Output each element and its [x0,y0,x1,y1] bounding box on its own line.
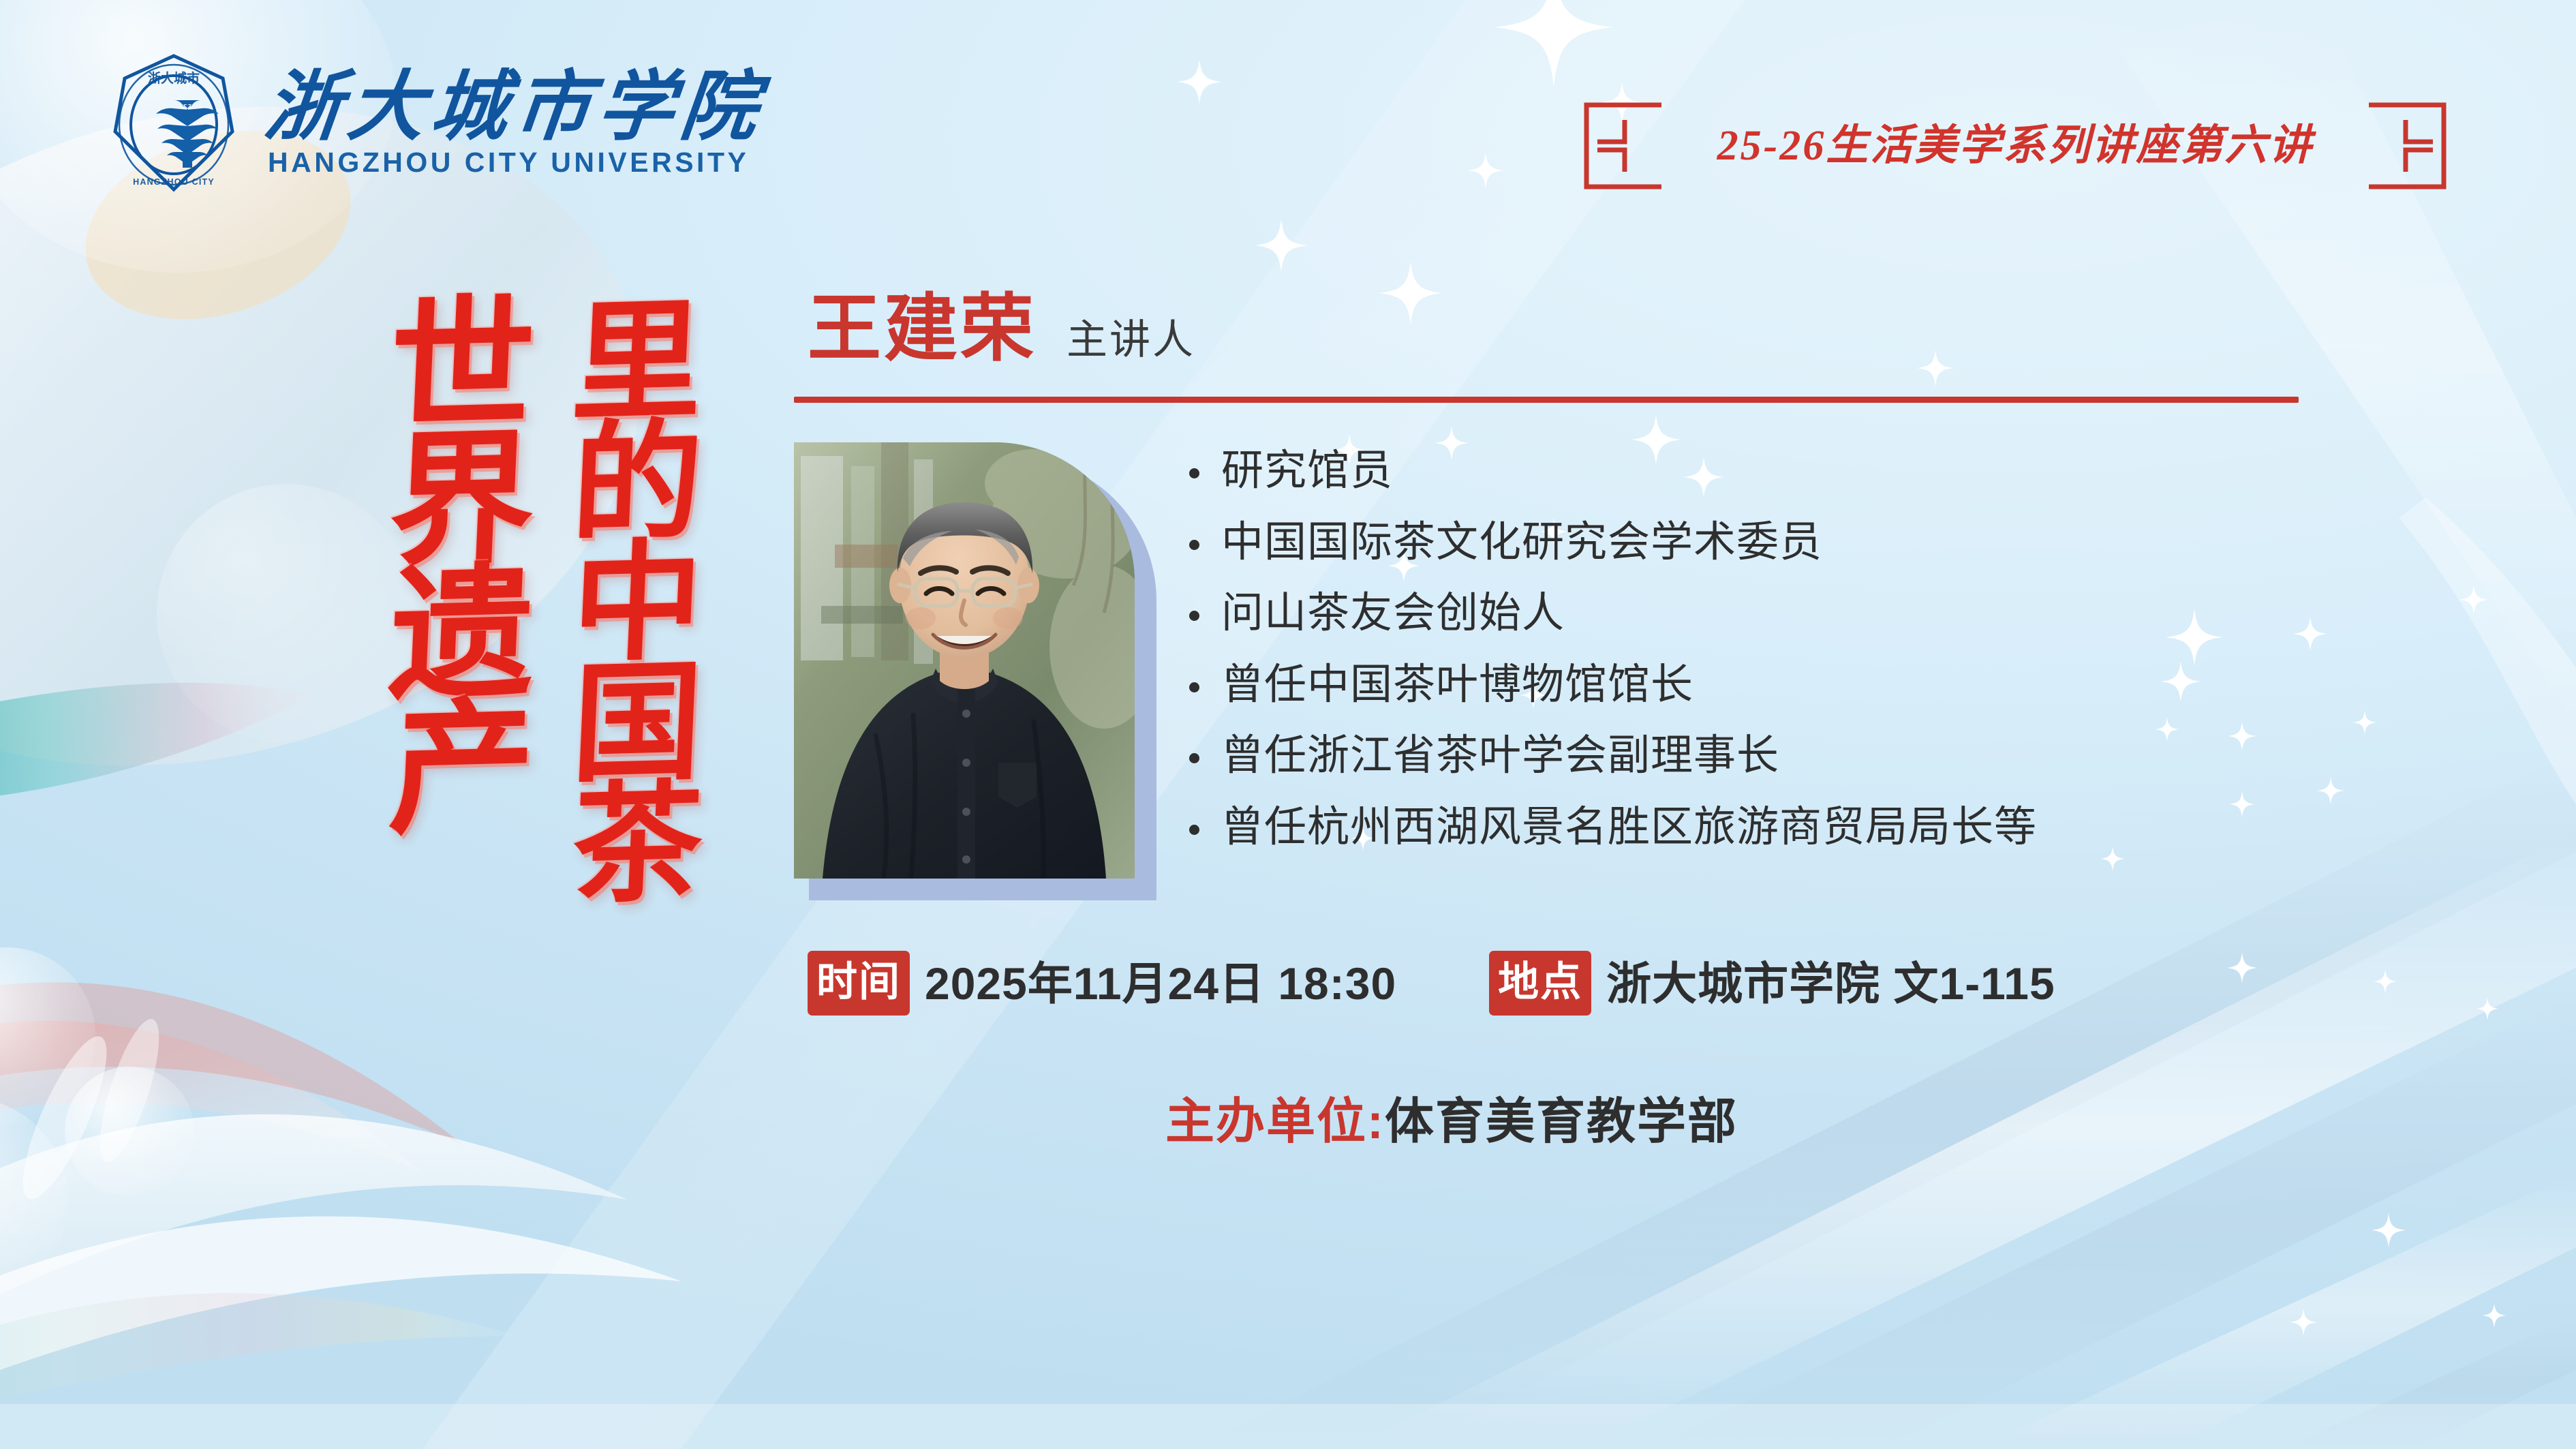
logo-name-cn: 浙大城市学院 [261,70,768,146]
list-item: 中国国际茶文化研究会学术委员 [1189,519,2327,566]
place-value: 浙大城市学院 文1-115 [1606,961,2055,1006]
speaker-header: 王建荣 主讲人 [794,293,2327,367]
bullet-dot-icon [1189,682,1199,692]
list-item: 问山茶友会创始人 [1189,590,2327,637]
logo-wordmark: 浙大城市学院 HANGZHOU CITY UNIVERSITY [265,70,764,177]
event-place-group: 地点 浙大城市学院 文1-115 [1489,951,2055,1016]
list-item: 曾任杭州西湖风景名胜区旅游商贸局局长等 [1189,804,2327,851]
portrait-frame [794,442,1135,879]
time-value: 2025年11月24日 18:30 [925,961,1396,1006]
title-char: 世 [387,298,538,436]
title-char: 界 [387,432,538,570]
logo-name-en: HANGZHOU CITY UNIVERSITY [265,149,764,177]
event-time-group: 时间 2025年11月24日 18:30 [808,951,1396,1016]
event-meta-row: 时间 2025年11月24日 18:30 地点 浙大城市学院 文1-115 [794,951,2327,1016]
organizer-value: 体育美育教学部 [1385,1095,1738,1149]
portrait-illustration [794,442,1135,879]
credential-text: 问山茶友会创始人 [1221,590,1565,637]
speaker-credentials-list: 研究馆员 中国国际茶文化研究会学术委员 问山茶友会创始人 曾任中国茶叶博物馆馆长… [1189,442,2327,850]
speaker-name: 王建荣 [808,293,1037,367]
header-divider [794,397,2299,403]
speaker-portrait [794,442,1141,885]
bullet-dot-icon [1189,825,1199,835]
title-column-right: 里 的 中 国 茶 [572,300,702,1268]
bullet-dot-icon [1189,753,1199,763]
title-char: 中 [570,543,705,667]
title-char: 遗 [387,567,538,705]
bullet-dot-icon [1189,468,1199,478]
lecture-poster: 浙大城市 HANGZHOU CITY 浙大城市学院 HANGZHOU CITY … [0,0,2576,1449]
speaker-bio-row: 研究馆员 中国国际茶文化研究会学术委员 问山茶友会创始人 曾任中国茶叶博物馆馆长… [794,442,2327,885]
title-char: 的 [570,423,705,547]
poster-title-calligraphy: 里 的 中 国 茶 世 界 遗 产 [266,300,702,1268]
credential-text: 中国国际茶文化研究会学术委员 [1221,519,1822,566]
title-char: 里 [570,303,705,427]
time-tag-badge: 时间 [808,951,910,1016]
organizer-label: 主办单位: [1165,1095,1385,1149]
poster-content: 王建荣 主讲人 [794,293,2327,1146]
university-logo: 浙大城市 HANGZHOU CITY 浙大城市学院 HANGZHOU CITY … [106,51,764,194]
bullet-dot-icon [1189,611,1199,621]
place-tag-badge: 地点 [1489,951,1591,1016]
title-char: 茶 [570,784,705,908]
title-column-left: 世 界 遗 产 [390,300,534,1268]
credential-text: 研究馆员 [1221,448,1393,494]
organizer-row: 主办单位:体育美育教学部 [794,1097,2327,1146]
list-item: 曾任浙江省茶叶学会副理事长 [1189,733,2327,779]
university-crest-icon: 浙大城市 HANGZHOU CITY [106,51,242,194]
title-char: 产 [387,701,538,840]
list-item: 研究馆员 [1189,448,2327,494]
credential-text: 曾任中国茶叶博物馆馆长 [1221,662,1693,708]
credential-text: 曾任浙江省茶叶学会副理事长 [1221,733,1779,779]
lecture-series-banner: 25-26生活美学系列讲座第六讲 [1559,102,2471,189]
svg-text:浙大城市: 浙大城市 [148,70,200,86]
list-item: 曾任中国茶叶博物馆馆长 [1189,662,2327,708]
svg-text:HANGZHOU CITY: HANGZHOU CITY [133,177,215,187]
series-banner-label: 25-26生活美学系列讲座第六讲 [1559,125,2471,167]
credential-text: 曾任杭州西湖风景名胜区旅游商贸局局长等 [1221,804,2037,851]
speaker-role: 主讲人 [1067,320,1195,361]
title-char: 国 [570,664,705,788]
bullet-dot-icon [1189,540,1199,550]
